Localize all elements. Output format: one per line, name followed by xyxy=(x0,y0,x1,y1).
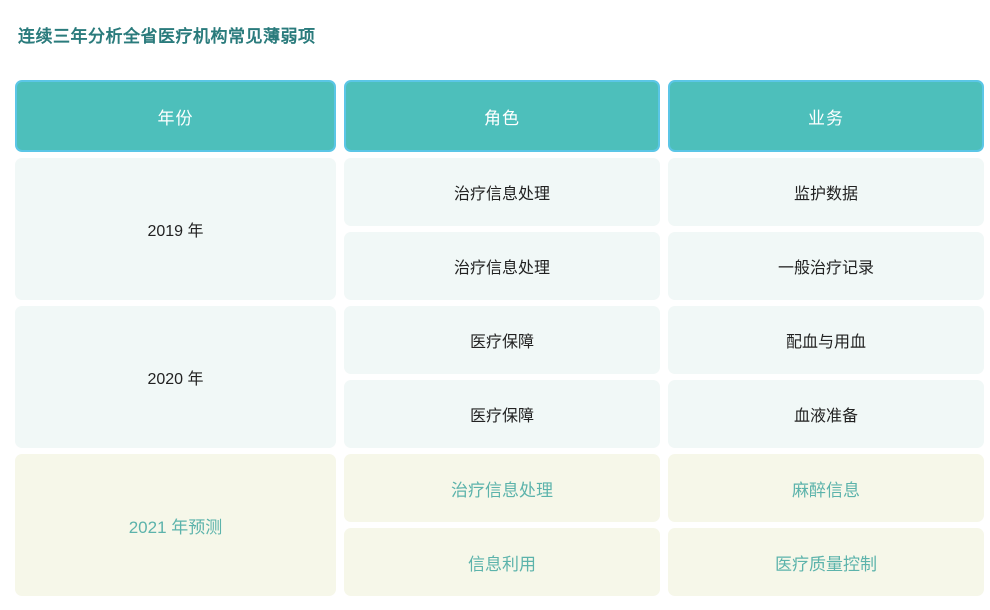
column-header-role: 角色 xyxy=(344,80,660,152)
business-cell: 配血与用血 xyxy=(668,306,984,374)
year-cell-2020: 2020 年 xyxy=(15,306,336,448)
business-cell: 血液准备 xyxy=(668,380,984,448)
role-cell: 治疗信息处理 xyxy=(344,232,660,300)
page-title: 连续三年分析全省医疗机构常见薄弱项 xyxy=(18,22,316,47)
business-cell: 监护数据 xyxy=(668,158,984,226)
column-header-year: 年份 xyxy=(15,80,336,152)
role-cell: 医疗保障 xyxy=(344,306,660,374)
business-cell: 医疗质量控制 xyxy=(668,528,984,596)
business-cell: 一般治疗记录 xyxy=(668,232,984,300)
page-root: 连续三年分析全省医疗机构常见薄弱项 年份 角色 业务 2019 年 治疗信息处理… xyxy=(0,0,990,610)
business-stack-2020: 配血与用血 血液准备 xyxy=(668,306,984,448)
role-stack-2020: 医疗保障 医疗保障 xyxy=(344,306,660,448)
role-cell: 医疗保障 xyxy=(344,380,660,448)
table-row-group-2020: 2020 年 医疗保障 医疗保障 配血与用血 血液准备 xyxy=(15,306,978,448)
role-cell: 治疗信息处理 xyxy=(344,454,660,522)
table-row-group-2019: 2019 年 治疗信息处理 治疗信息处理 监护数据 一般治疗记录 xyxy=(15,158,978,300)
column-header-business: 业务 xyxy=(668,80,984,152)
table-header-row: 年份 角色 业务 xyxy=(15,80,978,152)
business-stack-2021: 麻醉信息 医疗质量控制 xyxy=(668,454,984,596)
year-cell-2021-forecast: 2021 年预测 xyxy=(15,454,336,596)
business-stack-2019: 监护数据 一般治疗记录 xyxy=(668,158,984,300)
role-cell: 治疗信息处理 xyxy=(344,158,660,226)
business-cell: 麻醉信息 xyxy=(668,454,984,522)
analysis-table: 年份 角色 业务 2019 年 治疗信息处理 治疗信息处理 监护数据 一般治疗记… xyxy=(15,80,978,596)
table-row-group-2021-forecast: 2021 年预测 治疗信息处理 信息利用 麻醉信息 医疗质量控制 xyxy=(15,454,978,596)
role-cell: 信息利用 xyxy=(344,528,660,596)
role-stack-2021: 治疗信息处理 信息利用 xyxy=(344,454,660,596)
role-stack-2019: 治疗信息处理 治疗信息处理 xyxy=(344,158,660,300)
year-cell-2019: 2019 年 xyxy=(15,158,336,300)
